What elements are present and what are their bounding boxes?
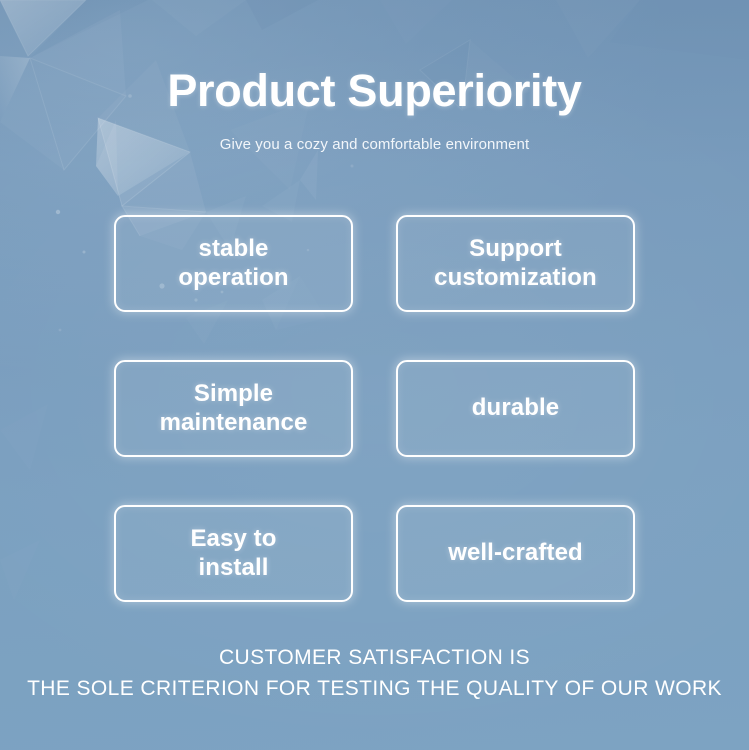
footer-slogan-line-2: THE SOLE CRITERION FOR TESTING THE QUALI… <box>0 673 749 704</box>
product-superiority-poster: Product Superiority Give you a cozy and … <box>0 0 749 750</box>
footer-slogan-line-1: CUSTOMER SATISFACTION IS <box>0 642 749 673</box>
poster-content: Product Superiority Give you a cozy and … <box>0 0 749 750</box>
feature-card-simple-maintenance[interactable]: Simple maintenance <box>114 360 353 457</box>
feature-card-durable[interactable]: durable <box>396 360 635 457</box>
feature-card-label: Support customization <box>434 235 597 292</box>
feature-grid: stable operation Support customization S… <box>114 215 635 602</box>
page-title: Product Superiority <box>0 68 749 113</box>
feature-card-label: Easy to install <box>190 525 276 582</box>
feature-card-well-crafted[interactable]: well-crafted <box>396 505 635 602</box>
feature-card-label: durable <box>472 394 559 422</box>
page-subtitle: Give you a cozy and comfortable environm… <box>0 135 749 155</box>
feature-card-label: stable operation <box>178 235 288 292</box>
feature-card-easy-to-install[interactable]: Easy to install <box>114 505 353 602</box>
feature-card-label: Simple maintenance <box>160 380 308 437</box>
feature-card-support-customization[interactable]: Support customization <box>396 215 635 312</box>
feature-card-label: well-crafted <box>448 539 583 567</box>
footer-slogan: CUSTOMER SATISFACTION IS THE SOLE CRITER… <box>0 642 749 704</box>
feature-card-stable-operation[interactable]: stable operation <box>114 215 353 312</box>
